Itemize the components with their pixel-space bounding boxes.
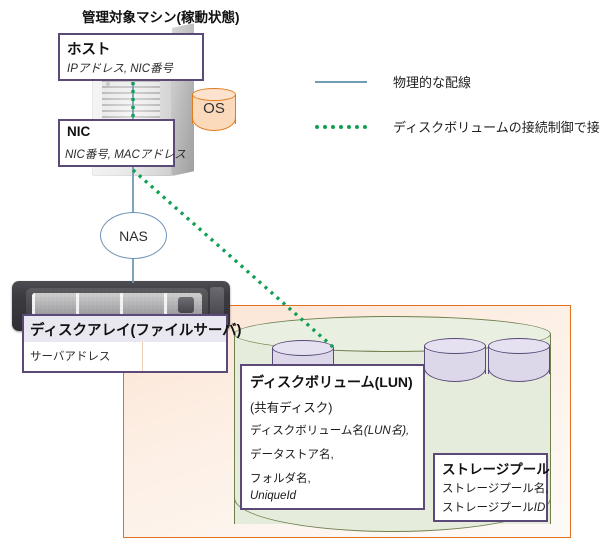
solid-line-swatch-icon <box>315 81 367 83</box>
disk-volume-cylinder <box>424 338 486 382</box>
tower-power-led-icon <box>106 82 110 86</box>
disk-volume-attribute-2: データストア名, <box>250 446 334 462</box>
entity-box-disk-array: ディスクアレイ(ファイルサーバ) サーバアドレス <box>22 314 228 373</box>
disk-bottom <box>424 368 486 382</box>
host-title: ホスト <box>67 38 111 59</box>
entity-box-storage-pool: ストレージプール ストレージプール名, ストレージプールID <box>433 453 548 522</box>
storage-pool-attribute-1: ストレージプール名, <box>442 480 548 496</box>
disk-top <box>424 338 486 354</box>
nas-label: NAS <box>101 213 166 258</box>
disk-volume-attr1-italic: (LUN名), <box>364 425 409 437</box>
disk-volume-attribute-1: ディスクボリューム名(LUN名), <box>250 422 409 438</box>
disk-array-title: ディスクアレイ(ファイルサーバ) <box>24 319 242 340</box>
nas-node: NAS <box>100 212 167 259</box>
storage-pool-title: ストレージプール <box>442 458 550 478</box>
disk-volume-title: ディスクボリューム(LUN) <box>250 372 413 392</box>
entity-box-host: ホスト IPアドレス, NIC番号 <box>58 33 204 81</box>
storage-pool-attribute-2: ストレージプールID <box>442 499 545 515</box>
legend-label-control-connection: ディスクボリュームの接続制御で接続 <box>393 117 600 136</box>
storage-pool-attr2-italic: ID <box>534 502 546 514</box>
os-cylinder: OS <box>192 88 236 131</box>
disk-volume-cylinder <box>488 338 550 382</box>
disk-array-attribute-row: サーバアドレス <box>24 342 226 369</box>
legend-row-control-connection: ディスクボリュームの接続制御で接続 <box>315 117 600 136</box>
os-bottom <box>192 118 236 131</box>
entity-box-disk-volume: ディスクボリューム(LUN) (共有ディスク) ディスクボリューム名(LUN名)… <box>240 364 425 510</box>
diagram-canvas: 管理対象マシン(稼動状態) <box>0 0 600 549</box>
disk-bottom <box>488 368 550 382</box>
disk-volume-subtitle: (共有ディスク) <box>250 397 332 416</box>
nic-title: NIC <box>67 124 90 139</box>
disk-top <box>488 338 550 354</box>
dotted-line-swatch-icon <box>315 125 367 129</box>
disk-array-header: ディスクアレイ(ファイルサーバ) <box>24 316 226 342</box>
storage-pool-attr2-plain: ストレージプール <box>442 502 534 514</box>
disk-array-attributes: サーバアドレス <box>24 348 110 364</box>
disk-volume-attr1-plain: ディスクボリューム名 <box>250 425 364 437</box>
entity-box-nic: NIC NIC番号, MACアドレス <box>58 119 175 167</box>
disk-top <box>272 340 334 356</box>
array-knob-icon <box>178 297 194 313</box>
os-label: OS <box>192 100 236 117</box>
legend-row-physical-wiring: 物理的な配線 <box>315 72 471 91</box>
disk-volume-attribute-4: UniqueId <box>250 490 296 502</box>
disk-array-column-divider <box>142 342 143 371</box>
host-attributes: IPアドレス, NIC番号 <box>67 60 173 76</box>
disk-volume-attribute-3: フォルダ名, <box>250 470 311 486</box>
page-title: 管理対象マシン(稼動状態) <box>82 6 240 26</box>
legend-label-physical-wiring: 物理的な配線 <box>393 72 471 91</box>
nic-attributes: NIC番号, MACアドレス <box>65 146 186 162</box>
